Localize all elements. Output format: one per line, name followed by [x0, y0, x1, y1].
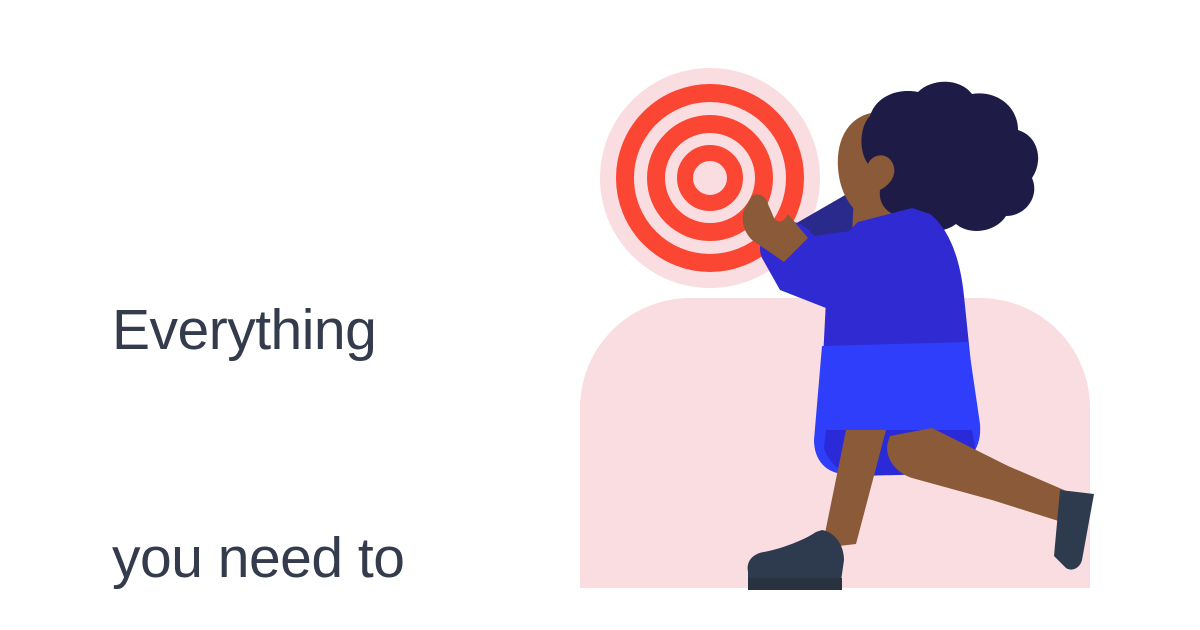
figure-head — [838, 82, 1038, 236]
page-title: Everything you need to know about OKRs — [112, 140, 542, 630]
hero-illustration — [540, 0, 1200, 630]
headline-block: Everything you need to know about OKRs — [112, 140, 542, 630]
figure-front-shoe-sole — [748, 578, 842, 590]
headline-line-1: Everything — [112, 292, 542, 368]
og-image-canvas: Everything you need to know about OKRs — [0, 0, 1200, 630]
figure-hair — [861, 82, 1038, 231]
headline-line-2: you need to — [112, 520, 542, 596]
